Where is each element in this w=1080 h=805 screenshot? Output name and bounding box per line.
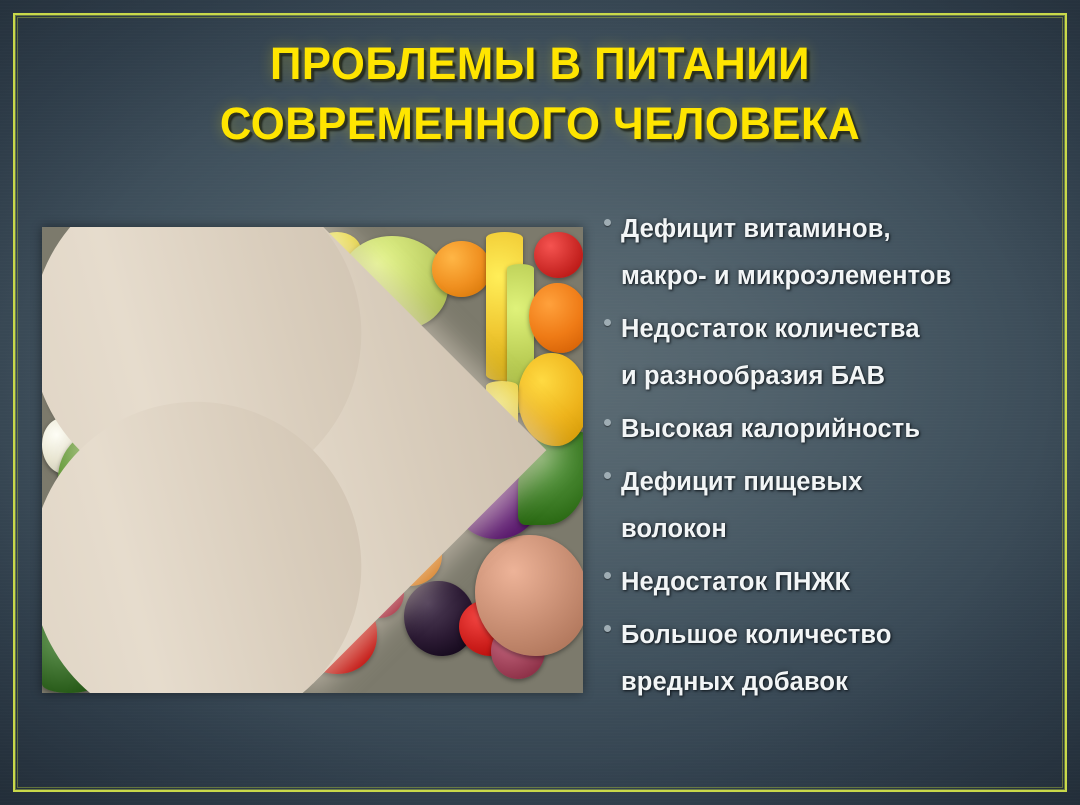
bullet-text: Высокая калорийность [621, 406, 920, 453]
bullet-text: Недостаток количества и разнообразия БАВ [621, 306, 920, 400]
bullet-list: Дефицит витаминов, макро- и микроэлемент… [604, 206, 1050, 712]
bullet-dot-icon [604, 472, 611, 479]
bullet-dot-icon [604, 625, 611, 632]
bullet-text: Дефицит пищевых волокон [621, 459, 862, 553]
bullet-dot-icon [604, 419, 611, 426]
bullet-item: Дефицит витаминов, макро- и микроэлемент… [604, 206, 1050, 300]
bullet-item: Недостаток ПНЖК [604, 559, 1050, 606]
bullet-item: Дефицит пищевых волокон [604, 459, 1050, 553]
bullet-dot-icon [604, 572, 611, 579]
slide-title-line-1: ПРОБЛЕМЫ В ПИТАНИИ [16, 34, 1064, 94]
slide-title-line-2: СОВРЕМЕННОГО ЧЕЛОВЕКА [16, 94, 1064, 154]
produce-orange [432, 241, 492, 297]
slide-title: ПРОБЛЕМЫ В ПИТАНИИ СОВРЕМЕННОГО ЧЕЛОВЕКА [0, 34, 1080, 154]
produce-orange-bell-pepper [529, 283, 583, 353]
bullet-item: Большое количество вредных добавок [604, 612, 1050, 706]
produce-red-apple [534, 232, 583, 279]
bullet-dot-icon [604, 219, 611, 226]
bullet-item: Высокая калорийность [604, 406, 1050, 453]
bullet-text: Недостаток ПНЖК [621, 559, 850, 606]
presentation-slide: ПРОБЛЕМЫ В ПИТАНИИ СОВРЕМЕННОГО ЧЕЛОВЕКА… [0, 0, 1080, 805]
bullet-item: Недостаток количества и разнообразия БАВ [604, 306, 1050, 400]
bullet-text: Дефицит витаминов, макро- и микроэлемент… [621, 206, 951, 300]
bullet-dot-icon [604, 319, 611, 326]
produce-heart-photo [42, 227, 583, 693]
bullet-text: Большое количество вредных добавок [621, 612, 892, 706]
